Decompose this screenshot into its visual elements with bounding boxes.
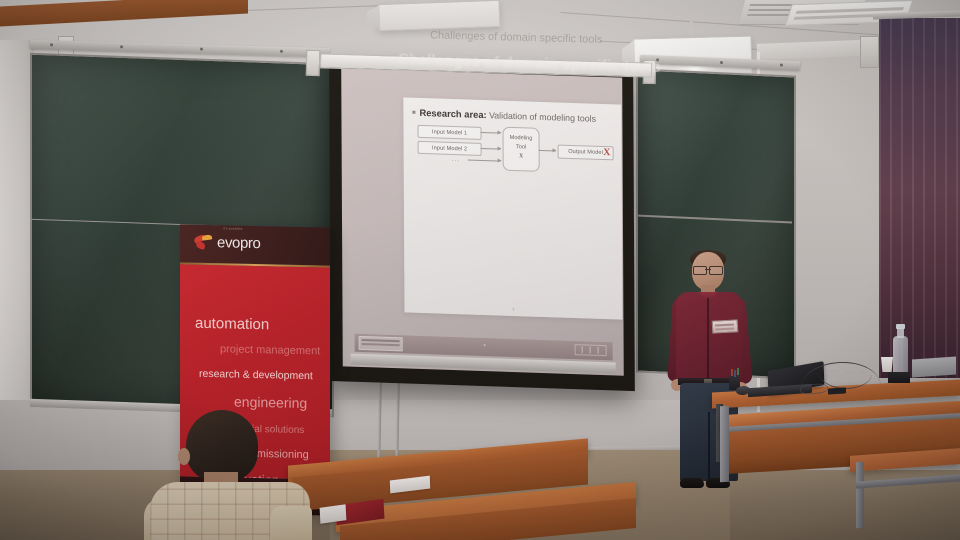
banner-keyword-engineering: engineering <box>234 394 307 412</box>
screen-mount-arm <box>306 50 321 76</box>
screen-surface: Research area: Validation of modeling to… <box>341 68 624 375</box>
taskbar-window-controls <box>575 344 607 356</box>
banner-header: evopro it's possible <box>180 224 330 265</box>
hanging-light-fixture-back <box>378 0 501 31</box>
evopro-wordmark: evopro <box>217 234 260 252</box>
presentation-slide: Research area: Validation of modeling to… <box>403 97 622 319</box>
light-stem <box>690 4 693 39</box>
dark-box-object <box>888 372 910 383</box>
diagram-node-input-model-2: Input Model 2 <box>418 141 482 156</box>
lecture-hall-photo: Challenges of domain specific tools Rese… <box>0 0 960 540</box>
projection-screen: Research area: Validation of modeling to… <box>329 59 635 391</box>
presenter-name-badge <box>712 319 739 333</box>
bench-frame-leg <box>856 462 864 528</box>
grey-equipment-box <box>912 356 956 377</box>
audience-right-arm <box>270 506 312 540</box>
modeling-tool-label-line2: Tool <box>504 144 539 151</box>
evopro-mark-icon <box>194 234 212 250</box>
error-x-icon-tool: X <box>504 154 539 161</box>
diagram-node-input-model-1: Input Model 1 <box>417 125 481 140</box>
audience-ear <box>178 448 190 465</box>
banner-keyword-automation: automation <box>195 315 269 334</box>
bench-frame-leg <box>720 406 729 482</box>
audience-member <box>142 410 312 540</box>
slide-page-number: 7 <box>512 307 515 312</box>
diagram-arrow-input1-to-tool <box>481 132 501 134</box>
diagram-arrow-more-to-tool <box>468 160 501 162</box>
modeling-tool-label-line1: Modeling <box>504 135 539 142</box>
slide-bullet-rest: Validation of modeling tools <box>489 110 596 124</box>
error-x-icon-output: X <box>603 148 610 158</box>
taskbar-dot <box>484 344 486 346</box>
bullet-square-icon <box>412 111 415 114</box>
evopro-tagline: it's possible <box>223 226 243 230</box>
taskbar-thumbnail <box>359 336 403 351</box>
diagram-node-ellipsis: ... <box>452 156 460 163</box>
evopro-logo: evopro <box>194 234 260 252</box>
diagram-arrow-tool-to-output <box>539 150 556 152</box>
presenter-shirt-placket <box>707 298 709 382</box>
phone-on-desk <box>828 387 846 394</box>
diagram-node-output-model: Output Model X <box>558 145 614 161</box>
paper-cup <box>881 357 893 372</box>
slide-bullet-bold: Research area: <box>419 107 486 120</box>
slide-flow-diagram: Input Model 1 Input Model 2 ... Modeling… <box>417 124 613 183</box>
diagram-arrow-input2-to-tool <box>481 148 501 150</box>
diagram-node-modeling-tool: Modeling Tool X <box>502 127 539 172</box>
trouser-seam <box>708 412 710 480</box>
presenter-left-shoe <box>680 478 704 488</box>
banner-keyword-project-management: project management <box>220 343 320 357</box>
slide-bullet-line: Research area: Validation of modeling to… <box>412 107 613 126</box>
window-curtain[interactable] <box>879 18 960 378</box>
output-model-label: Output Model <box>568 149 603 156</box>
banner-keyword-research-development: research & development <box>199 368 313 382</box>
board-rail-mount <box>860 36 879 68</box>
glasses-icon <box>693 266 723 273</box>
